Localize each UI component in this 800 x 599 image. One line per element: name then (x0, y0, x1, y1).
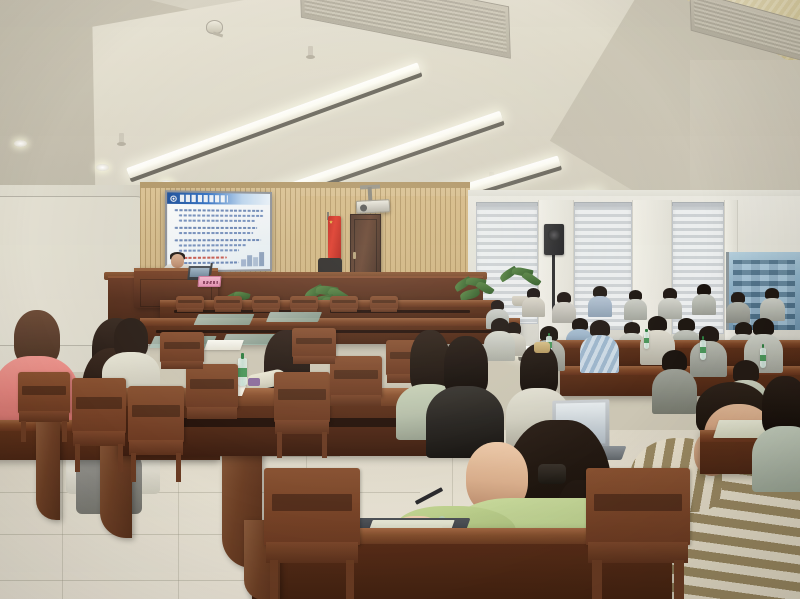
water-bottle[interactable] (238, 358, 247, 386)
attendee (692, 284, 715, 314)
conference-room-photo: Conference / Training Room Session Wide … (0, 0, 800, 599)
water-bottle[interactable] (644, 332, 649, 349)
desk-insert (266, 312, 322, 322)
sprinkler-icon (119, 133, 124, 144)
door-handle-icon[interactable] (353, 252, 356, 259)
ceiling-projector (356, 199, 391, 214)
desk-insert (194, 314, 255, 325)
attendee (760, 288, 784, 320)
chair[interactable] (274, 372, 330, 458)
chair[interactable] (586, 468, 690, 599)
chair[interactable] (370, 296, 398, 318)
attendee (588, 286, 611, 316)
slide-chart-thumbnail (240, 250, 266, 266)
slide-logo-icon (170, 195, 176, 201)
smoke-detector-icon (206, 20, 223, 34)
attendee (522, 288, 544, 316)
presenter-nameplate (198, 276, 222, 287)
chair[interactable] (264, 468, 360, 599)
slide-title-text (180, 195, 228, 203)
small-pouch[interactable] (248, 378, 260, 386)
chair[interactable] (330, 296, 358, 318)
chair[interactable] (330, 356, 382, 426)
sprinkler-icon (308, 46, 313, 57)
water-bottle[interactable] (700, 340, 706, 360)
chair[interactable] (128, 386, 184, 482)
chair[interactable] (18, 372, 70, 442)
paper-handout[interactable] (204, 340, 244, 350)
chair[interactable] (160, 332, 204, 384)
water-bottle[interactable] (760, 348, 766, 368)
chair[interactable] (292, 328, 336, 378)
downlight-icon (96, 164, 109, 171)
attendee-blue-plaid (580, 320, 618, 372)
hair-tie (538, 464, 566, 484)
attendee (624, 290, 646, 319)
presenter-head (171, 254, 184, 268)
hair-clip (534, 342, 550, 353)
chair[interactable] (72, 378, 126, 472)
pa-speaker (544, 224, 564, 255)
attendee (756, 376, 800, 486)
downlight-icon (14, 140, 27, 147)
attendee (658, 288, 681, 318)
